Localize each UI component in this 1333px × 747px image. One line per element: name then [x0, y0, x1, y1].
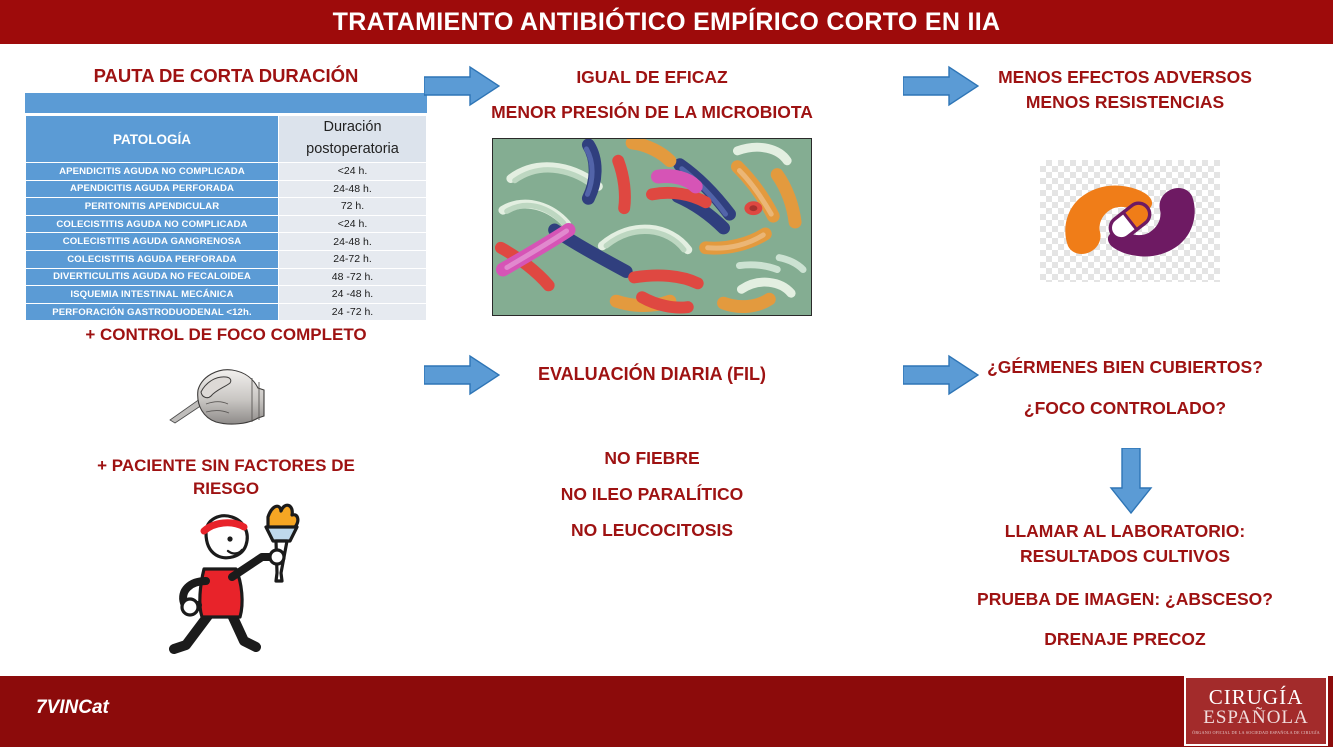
table-row: APENDICITIS AGUDA NO COMPLICADA<24 h. — [26, 163, 427, 181]
column-header-duration: Duración postoperatoria — [279, 116, 427, 163]
table-row: PERFORACIÓN GASTRODUODENAL <12h.24 -72 h… — [26, 303, 427, 321]
action-item-1: RESULTADOS CULTIVOS — [960, 544, 1290, 569]
table-body: APENDICITIS AGUDA NO COMPLICADA<24 h.APE… — [26, 163, 427, 321]
right-question-line1: ¿GÉRMENES BIEN CUBIERTOS? — [960, 356, 1290, 380]
duration-header-line2: postoperatoria — [279, 139, 426, 161]
action-item-3: DRENAJE PRECOZ — [960, 628, 1290, 652]
paciente-sin-factores-note: + PACIENTE SIN FACTORES DE RIESGO — [25, 455, 427, 501]
cell-duration: 24-72 h. — [279, 250, 427, 268]
right-top-line1: MENOS EFECTOS ADVERSOS — [960, 66, 1290, 90]
middle-top-line2: MENOR PRESIÓN DE LA MICROBIOTA — [470, 101, 834, 125]
right-question-line2: ¿FOCO CONTROLADO? — [960, 397, 1290, 421]
left-column-heading: PAUTA DE CORTA DURACIÓN — [25, 64, 427, 89]
table-row: COLECISTITIS AGUDA NO COMPLICADA<24 h. — [26, 215, 427, 233]
right-top-line2: MENOS RESISTENCIAS — [960, 91, 1290, 115]
right-actions-primary: LLAMAR AL LABORATORIO: RESULTADOS CULTIV… — [960, 519, 1290, 570]
action-item-2: PRUEBA DE IMAGEN: ¿ABSCESO? — [945, 588, 1305, 612]
microbiota-bacteria-image — [492, 138, 812, 316]
runner-with-torch-image — [140, 495, 320, 660]
table-row: PERITONITIS APENDICULAR72 h. — [26, 198, 427, 216]
cell-pathology: COLECISTITIS AGUDA PERFORADA — [26, 250, 279, 268]
middle-top-line1: IGUAL DE EFICAZ — [490, 66, 814, 90]
cell-pathology: DIVERTICULITIS AGUDA NO FECALOIDEA — [26, 268, 279, 286]
cell-duration: 48 -72 h. — [279, 268, 427, 286]
cell-duration: 24 -48 h. — [279, 286, 427, 304]
footer-bar: 7VINCat — [0, 676, 1333, 747]
cell-duration: 24-48 h. — [279, 180, 427, 198]
cell-pathology: APENDICITIS AGUDA NO COMPLICADA — [26, 163, 279, 181]
journal-logo-subtitle: ÓRGANO OFICIAL DE LA SOCIEDAD ESPAÑOLA D… — [1192, 730, 1320, 735]
paciente-note-line1: + PACIENTE SIN FACTORES DE — [25, 455, 427, 478]
cell-pathology: APENDICITIS AGUDA PERFORADA — [26, 180, 279, 198]
cell-duration: <24 h. — [279, 215, 427, 233]
journal-logo-line1: CIRUGÍA — [1209, 687, 1304, 708]
arrow-right-to-middle-eval — [424, 354, 500, 396]
table-header-row: PATOLOGÍA Duración postoperatoria — [26, 116, 427, 163]
table-row: COLECISTITIS AGUDA GANGRENOSA24-48 h. — [26, 233, 427, 251]
cell-pathology: COLECISTITIS AGUDA GANGRENOSA — [26, 233, 279, 251]
cell-duration: <24 h. — [279, 163, 427, 181]
evaluacion-diaria-heading: EVALUACIÓN DIARIA (FIL) — [490, 362, 814, 386]
arrow-down-to-actions — [1109, 448, 1153, 514]
cell-duration: 24 -72 h. — [279, 303, 427, 321]
criteria-item-0: NO FIEBRE — [490, 441, 814, 477]
slide-title-bar: TRATAMIENTO ANTIBIÓTICO EMPÍRICO CORTO E… — [0, 0, 1333, 44]
hand-holding-scalpel-image — [168, 360, 293, 432]
cell-duration: 72 h. — [279, 198, 427, 216]
cell-duration: 24-48 h. — [279, 233, 427, 251]
caring-hands-pill-logo — [1040, 160, 1220, 282]
table-row: APENDICITIS AGUDA PERFORADA24-48 h. — [26, 180, 427, 198]
pathology-duration-table: PATOLOGÍA Duración postoperatoria APENDI… — [25, 115, 427, 321]
journal-logo-line2: ESPAÑOLA — [1203, 708, 1309, 727]
cell-pathology: PERITONITIS APENDICULAR — [26, 198, 279, 216]
criteria-item-2: NO LEUCOCITOSIS — [490, 513, 814, 549]
page-title: TRATAMIENTO ANTIBIÓTICO EMPÍRICO CORTO E… — [333, 8, 1001, 37]
column-header-pathology: PATOLOGÍA — [26, 116, 279, 163]
table-row: COLECISTITIS AGUDA PERFORADA24-72 h. — [26, 250, 427, 268]
footer-brand-label: 7VINCat — [36, 697, 109, 719]
cell-pathology: COLECISTITIS AGUDA NO COMPLICADA — [26, 215, 279, 233]
criteria-item-1: NO ILEO PARALÍTICO — [490, 477, 814, 513]
table-row: DIVERTICULITIS AGUDA NO FECALOIDEA48 -72… — [26, 268, 427, 286]
pathology-table-wrap: PATOLOGÍA Duración postoperatoria APENDI… — [25, 93, 427, 321]
table-top-accent-bar — [25, 93, 427, 115]
cell-pathology: ISQUEMIA INTESTINAL MECÁNICA — [26, 286, 279, 304]
cell-pathology: PERFORACIÓN GASTRODUODENAL <12h. — [26, 303, 279, 321]
duration-header-line1: Duración — [279, 117, 426, 139]
table-row: ISQUEMIA INTESTINAL MECÁNICA24 -48 h. — [26, 286, 427, 304]
action-item-0: LLAMAR AL LABORATORIO: — [960, 519, 1290, 544]
criteria-list: NO FIEBRE NO ILEO PARALÍTICO NO LEUCOCIT… — [490, 441, 814, 549]
control-foco-note: + CONTROL DE FOCO COMPLETO — [25, 324, 427, 347]
cirugia-espanola-logo: CIRUGÍA ESPAÑOLA ÓRGANO OFICIAL DE LA SO… — [1184, 676, 1328, 746]
